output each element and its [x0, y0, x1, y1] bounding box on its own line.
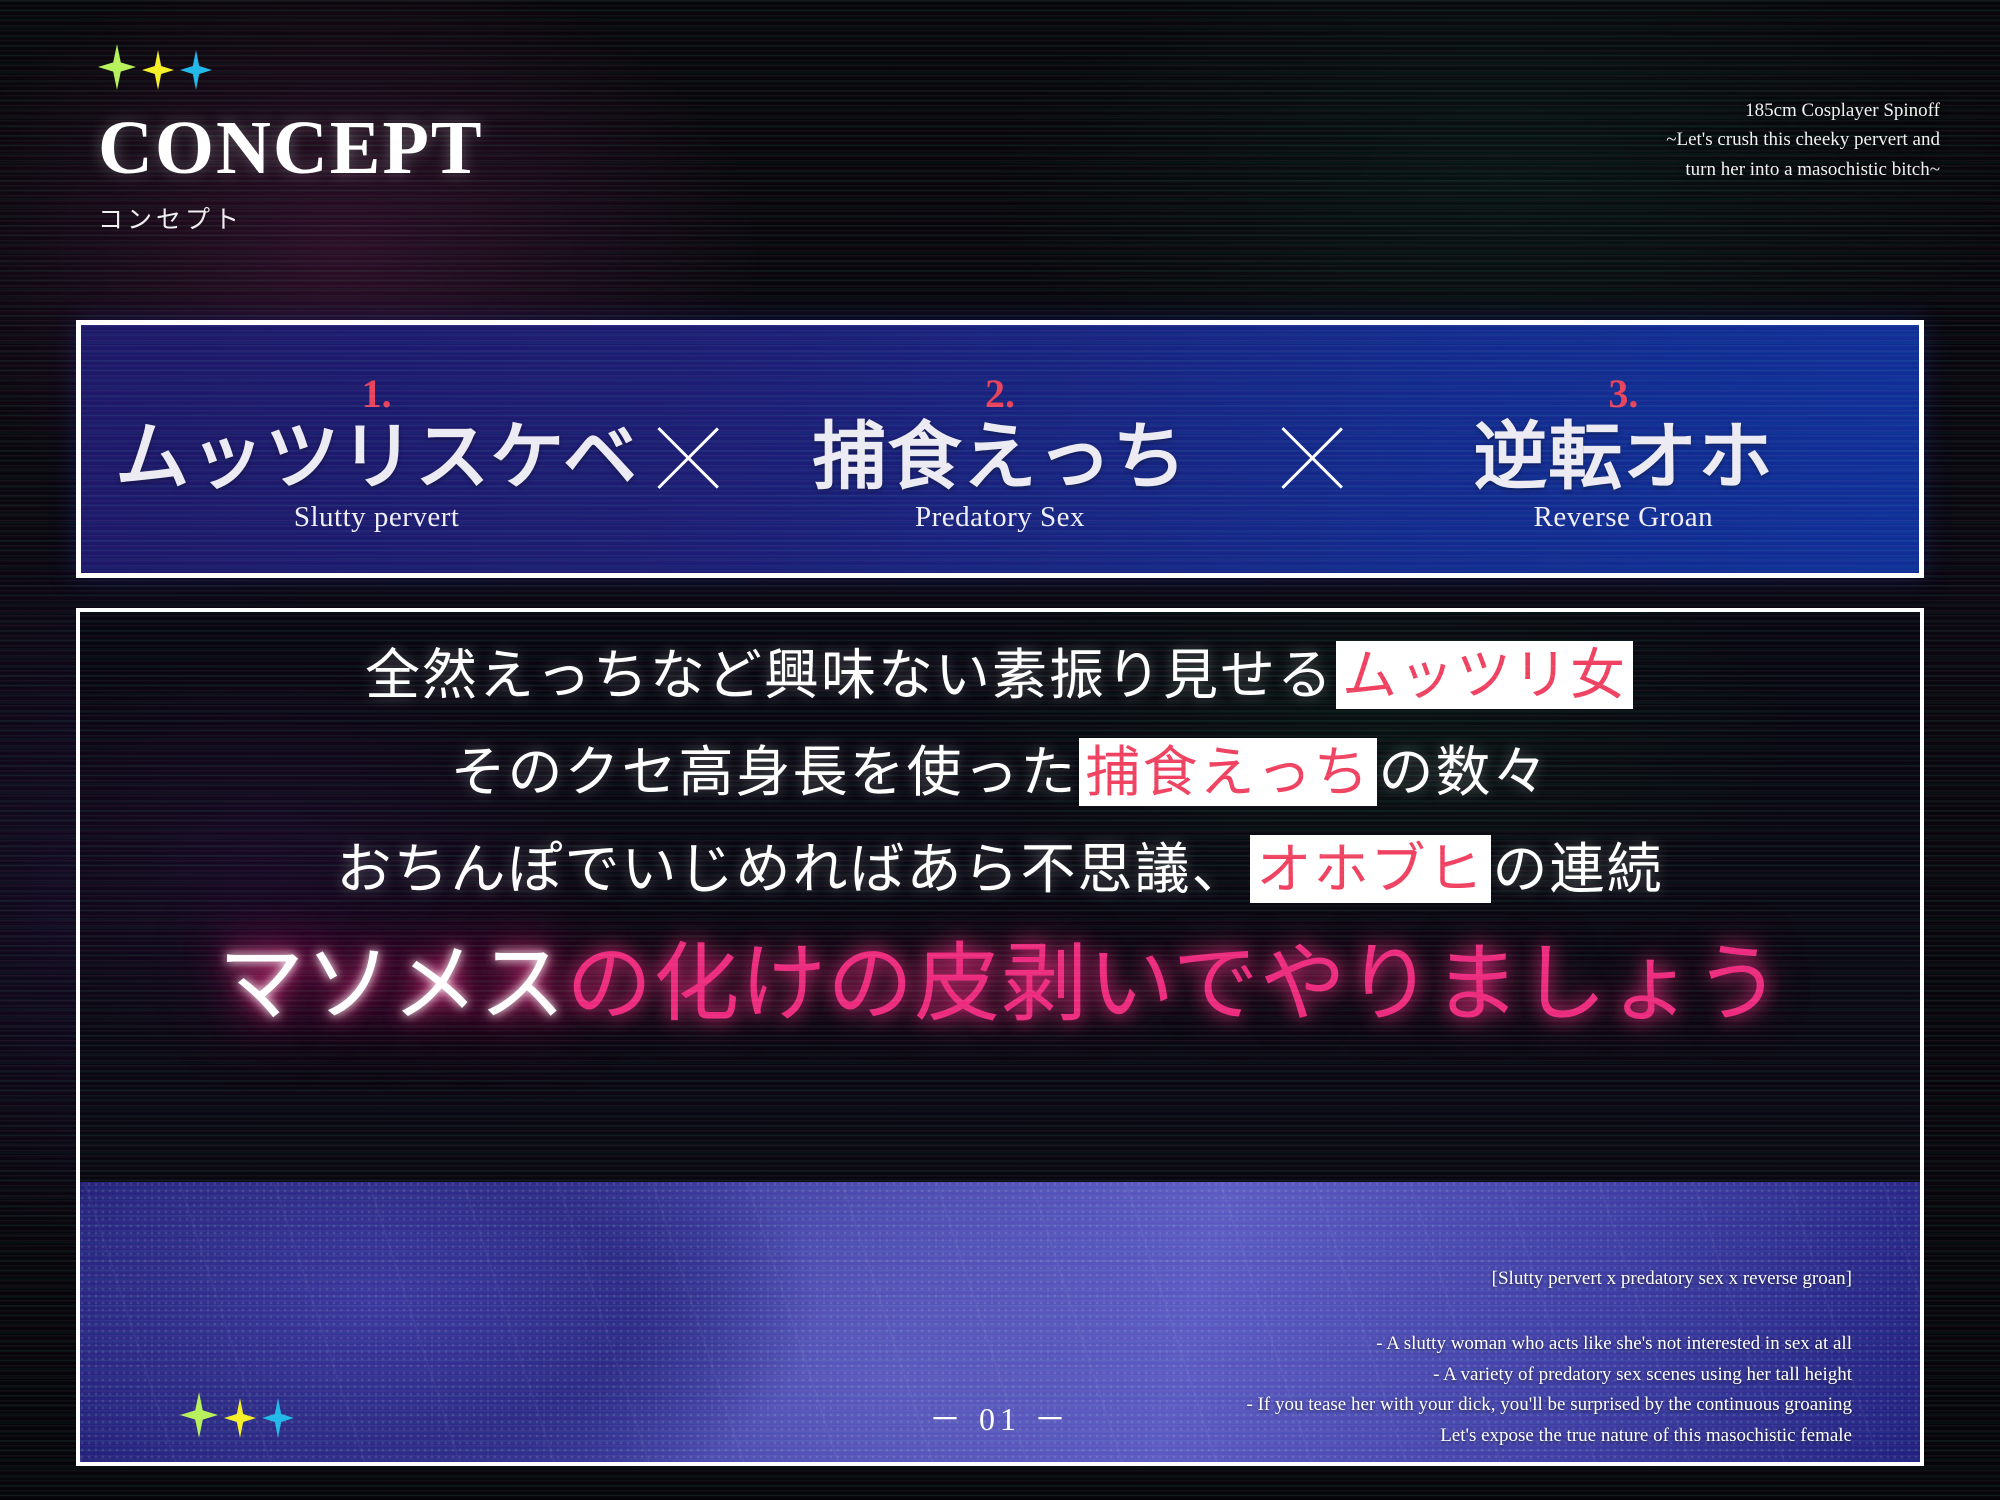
- body-line-1-pre: 全然えっちなど興味ない素振り見せる: [365, 643, 1334, 707]
- page-title: CONCEPT: [98, 110, 484, 186]
- header-sparkle-group: [98, 44, 484, 90]
- body-line-3-post: の連続: [1493, 837, 1664, 901]
- cross-icon-2: [1270, 416, 1354, 500]
- page-number: － 01 －: [80, 1394, 1920, 1440]
- footer-note-1: - A slutty woman who acts like she's not…: [1247, 1329, 1853, 1360]
- body-box: 全然えっちなど興味ない素振り見せるムッツリ女 そのクセ高身長を使った捕食えっちの…: [76, 608, 1924, 1466]
- body-line-1: 全然えっちなど興味ない素振り見せるムッツリ女: [80, 648, 1920, 703]
- page-subtitle-jp: コンセプト: [98, 200, 484, 236]
- body-line-1-highlight: ムッツリ女: [1336, 641, 1633, 709]
- concept-number-2: 2.: [730, 374, 1269, 414]
- concept-label-jp-1: ムッツリスケベ: [107, 416, 646, 499]
- body-text-block: 全然えっちなど興味ない素振り見せるムッツリ女 そのクセ高身長を使った捕食えっちの…: [80, 612, 1920, 1029]
- body-line-2-highlight: 捕食えっち: [1079, 738, 1376, 806]
- concept-label-jp-3: 逆転オホ: [1354, 416, 1893, 499]
- neon-headline-pink: の化けの皮剥いでやりましょう: [566, 934, 1781, 1034]
- concept-label-en-2: Predatory Sex: [730, 501, 1269, 534]
- concept-label-en-1: Slutty pervert: [107, 501, 646, 534]
- slide-root: CONCEPT コンセプト 185cm Cosplayer Spinoff ~L…: [0, 0, 2000, 1500]
- body-line-3-highlight: オホブヒ: [1250, 835, 1490, 903]
- body-line-2-pre: そのクセ高身長を使った: [450, 740, 1077, 804]
- header-tagline: 185cm Cosplayer Spinoff ~Let's crush thi…: [1666, 96, 1940, 184]
- concept-item-2: 2. 捕食えっち Predatory Sex: [730, 364, 1269, 534]
- cross-icon-1: [646, 416, 730, 500]
- concept-number-1: 1.: [107, 374, 646, 414]
- concept-banner: 1. ムッツリスケベ Slutty pervert 2. 捕食えっち Preda…: [76, 320, 1924, 578]
- body-line-2: そのクセ高身長を使った捕食えっちの数々: [80, 745, 1920, 800]
- sparkle-green-icon: [98, 44, 136, 90]
- tagline-line-3: turn her into a masochistic bitch~: [1666, 155, 1940, 184]
- tagline-line-1: 185cm Cosplayer Spinoff: [1666, 96, 1940, 125]
- concept-item-3: 3. 逆転オホ Reverse Groan: [1354, 364, 1893, 534]
- body-line-3-pre: おちんぽでいじめればあら不思議、: [336, 837, 1248, 901]
- concept-number-3: 3.: [1354, 374, 1893, 414]
- body-line-2-post: の数々: [1379, 740, 1550, 804]
- sparkle-yellow-icon: [142, 50, 174, 90]
- neon-headline-white: マソメス: [218, 934, 566, 1034]
- footer-note-2: - A variety of predatory sex scenes usin…: [1247, 1360, 1853, 1391]
- neon-headline: マソメスの化けの皮剥いでやりましょう: [80, 939, 1920, 1029]
- bottom-image-band: [Slutty pervert x predatory sex x revers…: [80, 1182, 1920, 1462]
- body-line-3: おちんぽでいじめればあら不思議、オホブヒの連続: [80, 842, 1920, 897]
- concept-label-en-3: Reverse Groan: [1354, 501, 1893, 534]
- header-left: CONCEPT コンセプト: [98, 44, 484, 236]
- concept-label-jp-2: 捕食えっち: [730, 416, 1269, 499]
- sparkle-cyan-icon: [180, 50, 212, 90]
- tagline-line-2: ~Let's crush this cheeky pervert and: [1666, 125, 1940, 154]
- footer-tagline: [Slutty pervert x predatory sex x revers…: [1247, 1264, 1853, 1295]
- concept-item-1: 1. ムッツリスケベ Slutty pervert: [107, 364, 646, 534]
